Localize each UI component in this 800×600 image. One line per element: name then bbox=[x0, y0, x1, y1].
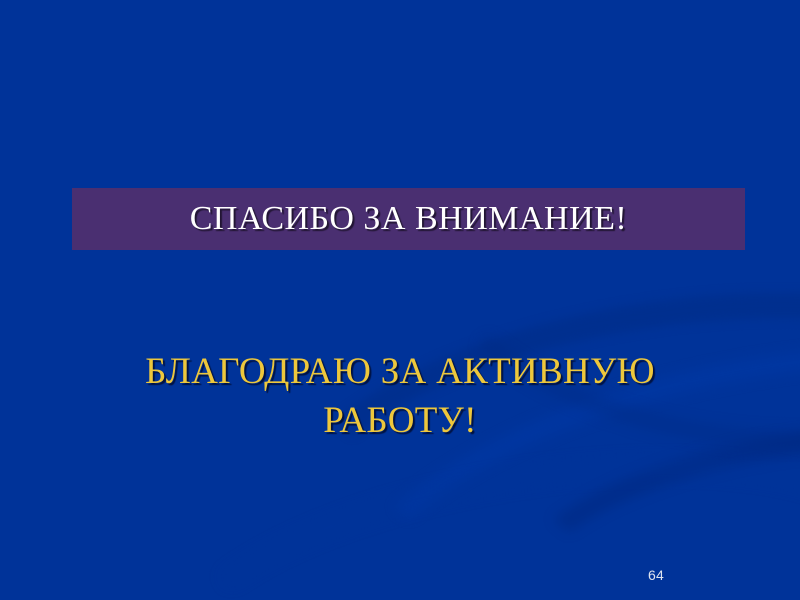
slide-title: СПАСИБО ЗА ВНИМАНИЕ! bbox=[190, 202, 628, 236]
body-line-2: РАБОТУ! bbox=[60, 397, 740, 446]
page-number: 64 bbox=[648, 568, 664, 582]
slide-background-gradient bbox=[0, 0, 800, 600]
presentation-slide: СПАСИБО ЗА ВНИМАНИЕ! БЛАГОДРАЮ ЗА АКТИВН… bbox=[0, 0, 800, 600]
slide-body-text: БЛАГОДРАЮ ЗА АКТИВНУЮ РАБОТУ! bbox=[60, 348, 740, 446]
title-banner: СПАСИБО ЗА ВНИМАНИЕ! bbox=[72, 188, 745, 250]
body-line-1: БЛАГОДРАЮ ЗА АКТИВНУЮ bbox=[60, 348, 740, 397]
